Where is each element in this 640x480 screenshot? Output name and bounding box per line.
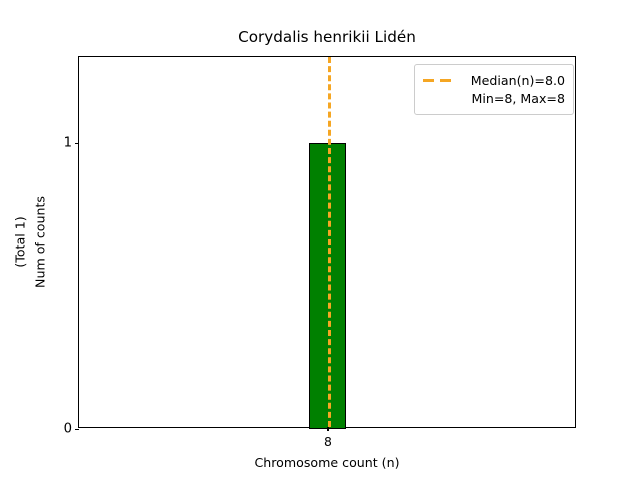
legend-entry-minmax: Min=8, Max=8 — [423, 89, 565, 107]
legend-label-minmax: Min=8, Max=8 — [464, 91, 565, 106]
y-axis-label-line-1: Num of counts — [30, 196, 50, 288]
figure-canvas: Corydalis henrikii Lidén (Total 1) Num o… — [0, 0, 640, 480]
median-line — [328, 57, 331, 427]
y-tick-mark — [75, 429, 79, 430]
y-axis-label-line-2: (Total 1) — [10, 196, 30, 288]
legend[interactable]: Median(n)=8.0 Min=8, Max=8 — [414, 64, 574, 115]
y-axis-label: (Total 1) Num of counts — [0, 56, 60, 428]
plot-area: 0 1 8 Median(n)=8.0 Min=8, Max=8 — [78, 56, 576, 428]
y-tick-mark — [75, 143, 79, 144]
x-tick-mark — [327, 427, 328, 431]
chart-title: Corydalis henrikii Lidén — [78, 28, 576, 46]
y-tick-label: 1 — [64, 136, 72, 151]
legend-entry-median: Median(n)=8.0 — [423, 71, 565, 89]
x-tick-label: 8 — [324, 434, 332, 449]
empty-swatch-icon — [423, 89, 457, 107]
dashed-line-icon — [423, 71, 457, 89]
x-axis-label: Chromosome count (n) — [78, 455, 576, 470]
legend-label-median: Median(n)=8.0 — [464, 73, 565, 88]
y-tick-label: 0 — [64, 422, 72, 437]
